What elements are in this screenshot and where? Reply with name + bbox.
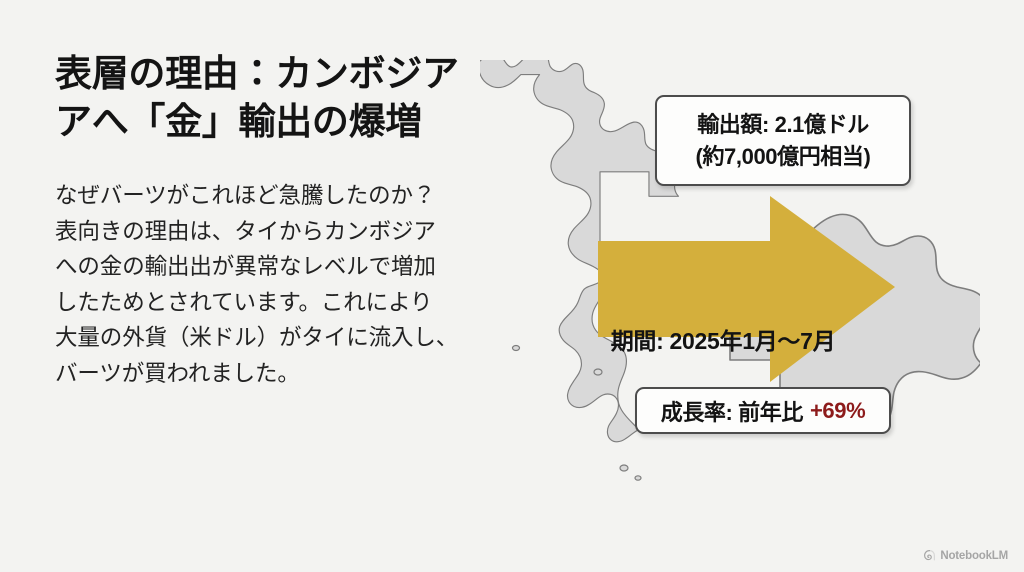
callout-export-value: 輸出額: 2.1億ドル (約7,000億円相当) xyxy=(655,95,911,186)
growth-rate-value: +69% xyxy=(810,398,865,424)
export-value-line2: (約7,000億円相当) xyxy=(696,141,871,173)
text-column: 表層の理由：カンボジア アへ「金」輸出の爆増 なぜバーツがこれほど急騰したのか？… xyxy=(55,50,485,391)
watermark: NotebookLM xyxy=(923,549,1008,562)
notebooklm-spiral-icon xyxy=(923,549,936,562)
body-paragraph: なぜバーツがこれほど急騰したのか？ 表向きの理由は、タイからカンボジア への金の… xyxy=(55,178,485,391)
growth-rate-label: 成長率: 前年比 xyxy=(661,395,803,427)
callout-growth-rate: 成長率: 前年比 +69% xyxy=(635,387,891,434)
export-value-line1: 輸出額: 2.1億ドル xyxy=(697,109,869,141)
slide-root: 表層の理由：カンボジア アへ「金」輸出の爆増 なぜバーツがこれほど急騰したのか？… xyxy=(0,0,1024,572)
arrow-period-label: 期間: 2025年1月〜7月 xyxy=(588,322,858,356)
watermark-text: NotebookLM xyxy=(940,550,1008,562)
page-title: 表層の理由：カンボジア アへ「金」輸出の爆増 xyxy=(55,50,485,146)
